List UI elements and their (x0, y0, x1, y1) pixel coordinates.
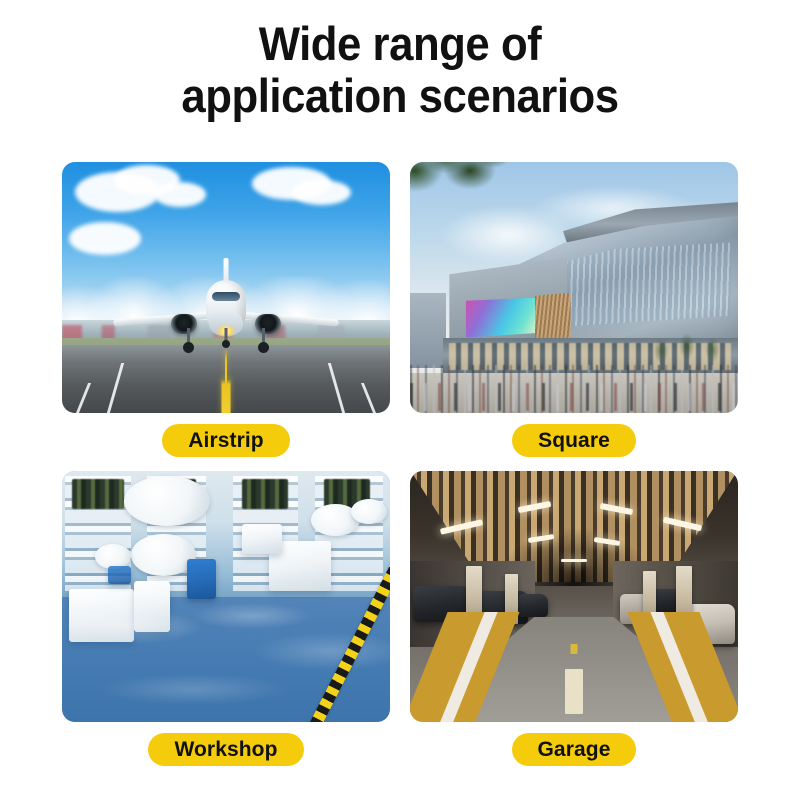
airplane-cockpit (212, 292, 240, 301)
scenario-label-garage: Garage (512, 733, 637, 766)
airplane-engine-left (171, 314, 197, 334)
scenario-cell-square: Square (410, 162, 738, 457)
background-tower (410, 293, 446, 368)
machine-head (242, 479, 288, 509)
scenario-cell-garage: Garage (410, 471, 738, 766)
material-roll (351, 499, 387, 524)
lane-center-dash (565, 669, 583, 714)
badge-row-garage: Garage (410, 722, 738, 766)
airplane-engine-right (255, 314, 281, 334)
workshop-photo (62, 471, 390, 722)
led-billboard (466, 298, 538, 338)
floor-reflections (62, 586, 390, 722)
lane-center-dash (571, 644, 578, 654)
scenario-grid: Airstrip (62, 162, 738, 766)
landing-gear-wheel (222, 340, 230, 348)
page-title-line-1: Wide range of (28, 18, 772, 70)
parked-car (518, 594, 548, 617)
airplane (111, 272, 341, 352)
scenario-card-airstrip[interactable] (62, 162, 390, 413)
landing-gear-wheel (183, 342, 194, 353)
blue-bin (108, 566, 131, 584)
crowd-of-people (410, 383, 738, 411)
runway-centerline (222, 378, 231, 413)
tree-foliage (410, 162, 528, 227)
machine-head (72, 479, 124, 509)
scenario-cell-workshop: Workshop (62, 471, 390, 766)
cloud-icon (292, 180, 351, 205)
scenario-label-airstrip: Airstrip (162, 424, 289, 457)
square-photo (410, 162, 738, 413)
scenario-label-square: Square (512, 424, 636, 457)
landing-gear-wheel (258, 342, 269, 353)
scenario-card-garage[interactable] (410, 471, 738, 722)
equipment-box (242, 524, 281, 554)
garage-photo (410, 471, 738, 722)
cloud-icon (69, 222, 141, 255)
page-title-line-2: application scenarios (28, 70, 772, 122)
badge-row-workshop: Workshop (62, 722, 390, 766)
scenario-showcase-page: Wide range of application scenarios (0, 0, 800, 800)
scenario-label-workshop: Workshop (148, 733, 303, 766)
badge-row-airstrip: Airstrip (62, 413, 390, 457)
material-roll (95, 544, 131, 569)
airstrip-photo (62, 162, 390, 413)
material-roll (124, 476, 209, 526)
badge-row-square: Square (410, 413, 738, 457)
scenario-card-workshop[interactable] (62, 471, 390, 722)
page-title: Wide range of application scenarios (28, 18, 772, 122)
scenario-card-square[interactable] (410, 162, 738, 413)
scenario-cell-airstrip: Airstrip (62, 162, 390, 457)
ceiling-light (561, 559, 587, 563)
